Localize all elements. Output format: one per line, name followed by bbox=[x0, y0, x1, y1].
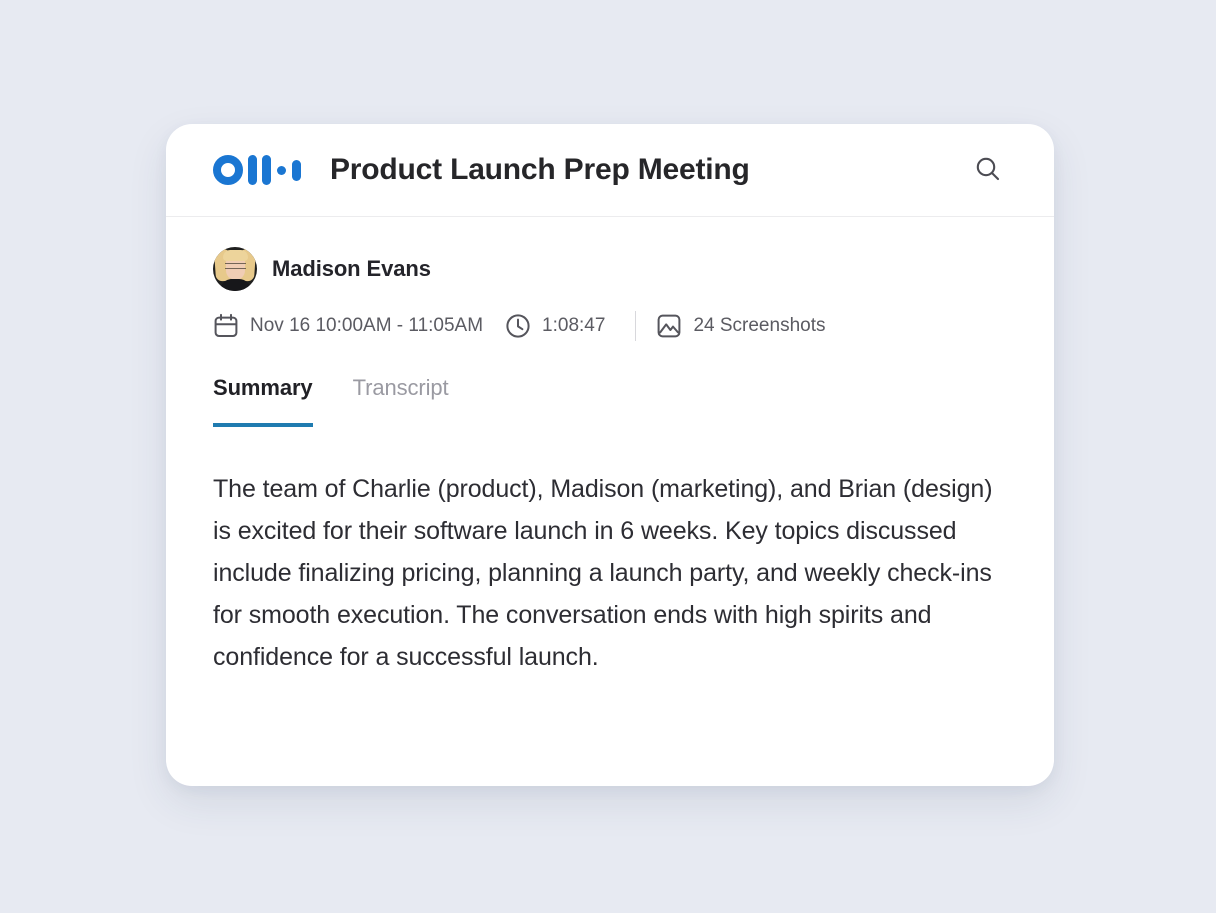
meta-duration: 1:08:47 bbox=[505, 313, 605, 339]
calendar-icon bbox=[213, 313, 239, 339]
meeting-card: Product Launch Prep Meeting bbox=[166, 124, 1054, 786]
meta-screenshots-label: 24 Screenshots bbox=[693, 315, 825, 337]
summary-text: The team of Charlie (product), Madison (… bbox=[213, 468, 1003, 678]
avatar-glasses-icon bbox=[225, 263, 246, 269]
logo-bar-2-icon bbox=[262, 155, 271, 185]
card-header: Product Launch Prep Meeting bbox=[166, 124, 1054, 217]
logo-bar-1-icon bbox=[248, 155, 257, 185]
speaker-name: Madison Evans bbox=[272, 256, 431, 282]
tab-summary[interactable]: Summary bbox=[213, 375, 313, 427]
tab-transcript[interactable]: Transcript bbox=[353, 375, 449, 427]
meeting-meta-row: Nov 16 10:00AM - 11:05AM 1:08:47 bbox=[213, 311, 1007, 341]
logo-bar-3-icon bbox=[292, 160, 301, 181]
page-title: Product Launch Prep Meeting bbox=[330, 153, 750, 187]
search-button[interactable] bbox=[968, 150, 1008, 190]
meta-duration-label: 1:08:47 bbox=[542, 315, 605, 337]
search-icon bbox=[973, 154, 1003, 187]
meta-screenshots[interactable]: 24 Screenshots bbox=[656, 313, 825, 339]
meta-date: Nov 16 10:00AM - 11:05AM bbox=[213, 313, 483, 339]
logo-dot-icon bbox=[277, 166, 286, 175]
image-icon bbox=[656, 313, 682, 339]
otter-logo[interactable] bbox=[213, 155, 301, 185]
avatar-fringe bbox=[223, 250, 248, 261]
page-root: Product Launch Prep Meeting bbox=[0, 0, 1216, 913]
clock-icon bbox=[505, 313, 531, 339]
card-body: Madison Evans Nov 16 10:00AM - 11:05AM bbox=[166, 217, 1054, 678]
tab-bar: Summary Transcript bbox=[213, 375, 1007, 427]
logo-ring-icon bbox=[213, 155, 243, 185]
avatar bbox=[213, 247, 257, 291]
meta-date-label: Nov 16 10:00AM - 11:05AM bbox=[250, 315, 483, 337]
avatar-body bbox=[220, 279, 251, 291]
meta-divider bbox=[635, 311, 636, 341]
speaker-row: Madison Evans bbox=[213, 217, 1007, 291]
